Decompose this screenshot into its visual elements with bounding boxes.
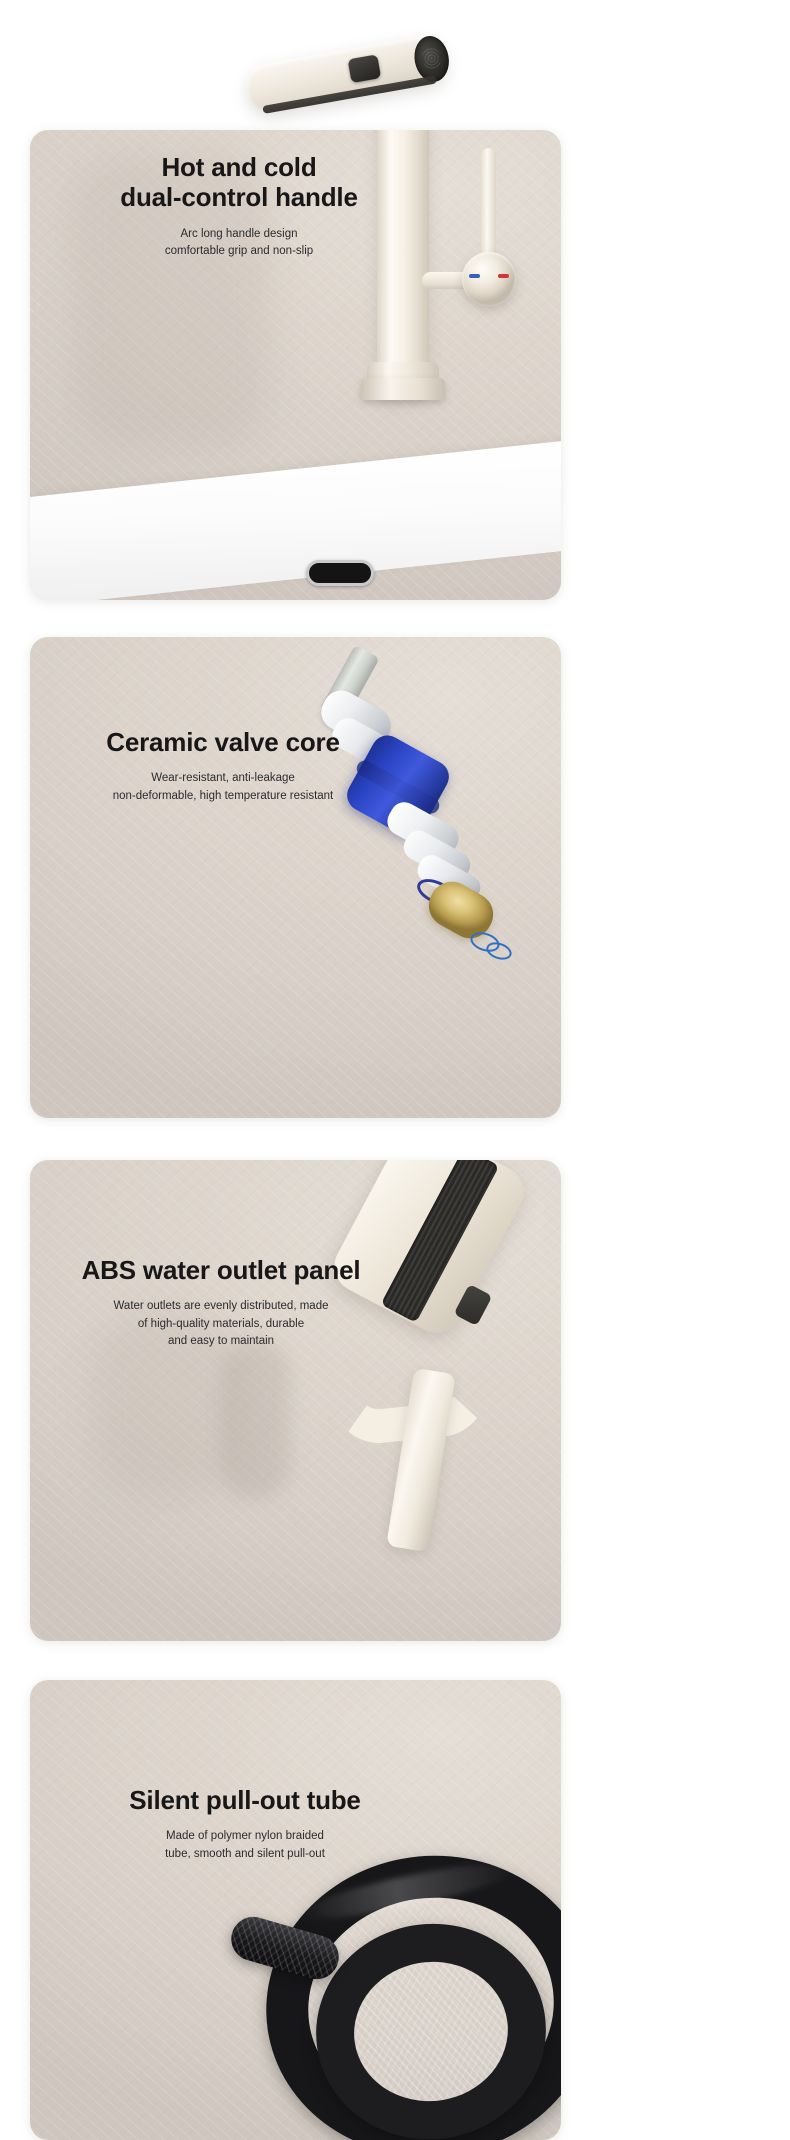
faucet-handle-bar <box>243 33 448 115</box>
panel-copy: ABS water outlet panel Water outlets are… <box>46 1255 396 1351</box>
valve-core-exploded-illustration <box>30 637 561 1118</box>
panel-copy: Ceramic valve core Wear-resistant, anti-… <box>58 727 388 805</box>
valve-ceramic-disc-2 <box>399 826 475 886</box>
braided-hose-illustration <box>30 1680 561 2140</box>
valve-ceramic-disc-1 <box>382 797 463 863</box>
cold-indicator-icon <box>469 274 480 278</box>
panel-title: Silent pull-out tube <box>80 1785 410 1815</box>
faucet-temperature-knob <box>462 252 516 306</box>
panel-title: Hot and cold dual-control handle <box>74 152 404 213</box>
feature-panel-silent-pull-out-tube: Silent pull-out tube Made of polymer nyl… <box>30 1680 561 2140</box>
valve-stem <box>320 645 379 722</box>
valve-oring-2 <box>428 892 471 926</box>
panel-subtitle: Water outlets are evenly distributed, ma… <box>46 1298 396 1350</box>
braid-texture <box>294 1882 561 2130</box>
countertop-basin <box>30 439 561 600</box>
valve-brass-seat <box>421 874 501 946</box>
spout-tube <box>386 1368 456 1552</box>
valve-oring-4 <box>484 939 514 962</box>
braid-texture <box>226 1912 344 1985</box>
feature-panel-hot-cold-handle: Hot and cold dual-control handle Arc lon… <box>30 130 561 600</box>
braid-texture <box>345 1952 517 2111</box>
panel-copy: Silent pull-out tube Made of polymer nyl… <box>80 1785 410 1863</box>
hose-inner-coil <box>302 1909 560 2140</box>
wall-shadow-small <box>220 1340 290 1500</box>
faucet-side-arm <box>422 272 480 289</box>
hose-outer-coil <box>247 1834 561 2140</box>
hose-tail-end <box>226 1912 344 1985</box>
faucet-base <box>361 378 445 400</box>
panel-subtitle: Wear-resistant, anti-leakage non-deforma… <box>58 770 388 805</box>
product-feature-page: Hot and cold dual-control handle Arc lon… <box>0 0 790 2140</box>
panel-image-clip <box>30 637 561 1118</box>
basin-overflow-drain <box>306 560 374 586</box>
handle-button <box>348 54 382 83</box>
hot-indicator-icon <box>498 274 509 278</box>
panel-subtitle: Made of polymer nylon braided tube, smoo… <box>80 1828 410 1863</box>
valve-ceramic-disc-3 <box>413 851 484 907</box>
spout-mode-button <box>454 1284 493 1326</box>
feature-panel-ceramic-valve-core: Ceramic valve core Wear-resistant, anti-… <box>30 637 561 1118</box>
panel-image-clip <box>30 1160 561 1641</box>
panel-title: ABS water outlet panel <box>46 1255 396 1285</box>
hose-highlight <box>297 1853 518 1928</box>
panel-subtitle: Arc long handle design comfortable grip … <box>74 226 404 261</box>
panel-image-clip <box>30 1680 561 2140</box>
valve-oring-1 <box>413 874 458 910</box>
faucet-lever <box>481 148 496 266</box>
faucet-neck <box>367 362 439 388</box>
feature-panel-abs-water-outlet: ABS water outlet panel Water outlets are… <box>30 1160 561 1641</box>
abs-outlet-grill <box>381 1160 500 1323</box>
panel-copy: Hot and cold dual-control handle Arc lon… <box>74 152 404 261</box>
valve-oring-3 <box>468 929 502 955</box>
handle-groove <box>262 75 437 113</box>
panel-title: Ceramic valve core <box>58 727 388 757</box>
